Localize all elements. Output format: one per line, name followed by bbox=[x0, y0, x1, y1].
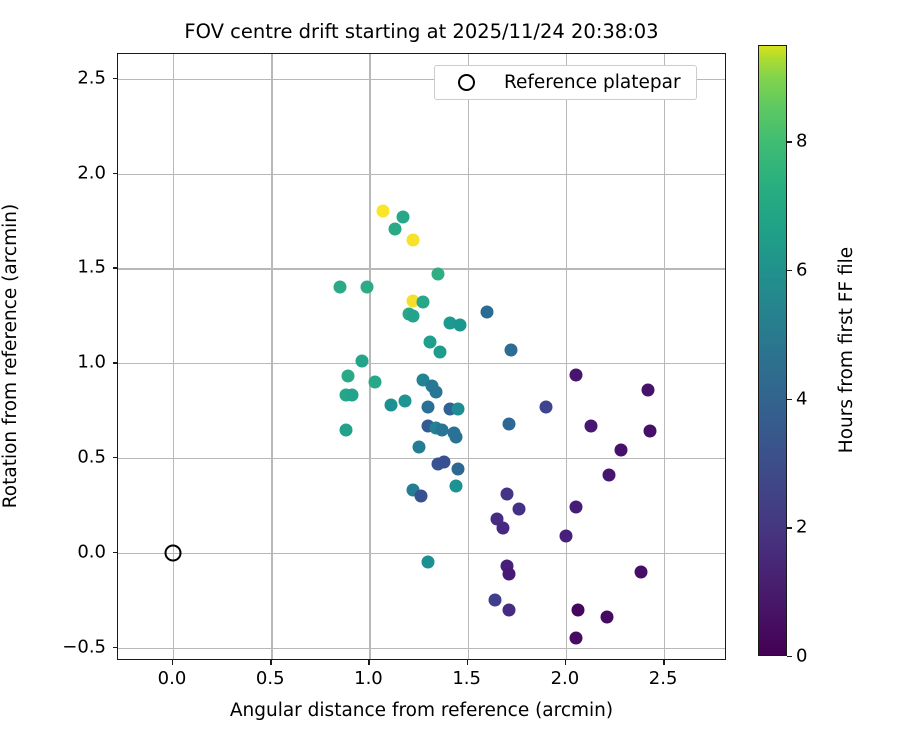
scatter-point bbox=[569, 501, 582, 514]
scatter-point bbox=[502, 567, 515, 580]
x-tick-label: 0.0 bbox=[158, 668, 187, 689]
scatter-point bbox=[341, 370, 354, 383]
colorbar-tick-label: 6 bbox=[796, 260, 807, 281]
scatter-point bbox=[333, 281, 346, 294]
gridline-horizontal bbox=[118, 553, 725, 554]
y-tick-label: 1.0 bbox=[77, 352, 106, 373]
scatter-point bbox=[449, 480, 462, 493]
gridline-horizontal bbox=[118, 363, 725, 364]
scatter-point bbox=[504, 343, 517, 356]
legend-label: Reference platepar bbox=[504, 72, 685, 93]
scatter-point bbox=[434, 345, 447, 358]
y-tick-mark bbox=[113, 173, 118, 174]
figure-root: FOV centre drift starting at 2025/11/24 … bbox=[0, 0, 900, 750]
scatter-point bbox=[377, 205, 390, 218]
gridline-horizontal bbox=[118, 648, 725, 649]
colorbar-label: Hours from first FF file bbox=[836, 247, 857, 453]
y-tick-mark bbox=[113, 647, 118, 648]
y-tick-label: 0.5 bbox=[77, 447, 106, 468]
x-tick-label: 1.0 bbox=[354, 668, 383, 689]
colorbar-tick-label: 0 bbox=[796, 646, 807, 667]
gridline-vertical bbox=[369, 54, 370, 659]
colorbar-tick-label: 4 bbox=[796, 388, 807, 409]
reference-platepar-marker-icon bbox=[458, 74, 475, 91]
scatter-point bbox=[369, 376, 382, 389]
gridline-horizontal bbox=[118, 174, 725, 175]
scatter-point bbox=[416, 296, 429, 309]
scatter-point bbox=[361, 281, 374, 294]
scatter-point bbox=[430, 385, 443, 398]
colorbar bbox=[758, 45, 787, 656]
x-tick-label: 1.5 bbox=[452, 668, 481, 689]
scatter-point bbox=[497, 522, 510, 535]
x-tick-mark bbox=[270, 660, 271, 665]
scatter-point bbox=[569, 632, 582, 645]
gridline-vertical bbox=[664, 54, 665, 659]
scatter-point bbox=[585, 419, 598, 432]
page-title: FOV centre drift starting at 2025/11/24 … bbox=[117, 20, 726, 43]
y-tick-label: −0.5 bbox=[62, 636, 106, 657]
scatter-point bbox=[642, 383, 655, 396]
scatter-point bbox=[398, 395, 411, 408]
scatter-point bbox=[502, 603, 515, 616]
scatter-point bbox=[540, 400, 553, 413]
y-tick-label: 2.5 bbox=[77, 67, 106, 88]
scatter-point bbox=[559, 529, 572, 542]
scatter-point bbox=[571, 603, 584, 616]
gridline-vertical bbox=[271, 54, 272, 659]
x-tick-label: 2.5 bbox=[649, 668, 678, 689]
scatter-point bbox=[422, 556, 435, 569]
y-tick-mark bbox=[113, 362, 118, 363]
scatter-point bbox=[438, 455, 451, 468]
colorbar-tick-mark bbox=[787, 270, 792, 271]
x-tick-mark bbox=[467, 660, 468, 665]
y-tick-label: 0.0 bbox=[77, 541, 106, 562]
scatter-point bbox=[500, 488, 513, 501]
y-tick-mark bbox=[113, 457, 118, 458]
scatter-point bbox=[385, 398, 398, 411]
scatter-point bbox=[601, 611, 614, 624]
gridline-vertical bbox=[173, 54, 174, 659]
colorbar-tick-mark bbox=[787, 527, 792, 528]
x-tick-label: 2.0 bbox=[551, 668, 580, 689]
scatter-point bbox=[449, 431, 462, 444]
scatter-point bbox=[406, 309, 419, 322]
colorbar-tick-mark bbox=[787, 399, 792, 400]
scatter-point bbox=[451, 402, 464, 415]
scatter-point bbox=[345, 389, 358, 402]
y-tick-label: 2.0 bbox=[77, 162, 106, 183]
plot-area bbox=[117, 53, 726, 660]
scatter-point bbox=[644, 425, 657, 438]
y-tick-mark bbox=[113, 267, 118, 268]
scatter-point bbox=[634, 565, 647, 578]
gridline-vertical bbox=[468, 54, 469, 659]
y-tick-mark bbox=[113, 552, 118, 553]
scatter-point bbox=[451, 463, 464, 476]
scatter-point bbox=[481, 305, 494, 318]
scatter-point bbox=[414, 489, 427, 502]
scatter-point bbox=[489, 594, 502, 607]
legend: Reference platepar bbox=[434, 65, 697, 100]
colorbar-tick-mark bbox=[787, 656, 792, 657]
y-tick-label: 1.5 bbox=[77, 257, 106, 278]
scatter-point bbox=[453, 319, 466, 332]
gridline-horizontal bbox=[118, 268, 725, 269]
colorbar-tick-mark bbox=[787, 141, 792, 142]
scatter-point bbox=[512, 503, 525, 516]
scatter-point bbox=[388, 222, 401, 235]
x-tick-mark bbox=[172, 660, 173, 665]
colorbar-tick-label: 2 bbox=[796, 517, 807, 538]
scatter-point bbox=[432, 268, 445, 281]
x-axis-label: Angular distance from reference (arcmin) bbox=[117, 700, 726, 721]
scatter-point bbox=[569, 368, 582, 381]
reference-platepar-point bbox=[165, 544, 182, 561]
x-tick-mark bbox=[663, 660, 664, 665]
x-tick-mark bbox=[368, 660, 369, 665]
scatter-point bbox=[355, 355, 368, 368]
scatter-point bbox=[603, 469, 616, 482]
scatter-point bbox=[422, 400, 435, 413]
gridline-horizontal bbox=[118, 458, 725, 459]
scatter-point bbox=[614, 444, 627, 457]
scatter-point bbox=[396, 211, 409, 224]
scatter-point bbox=[412, 440, 425, 453]
colorbar-tick-label: 8 bbox=[796, 131, 807, 152]
x-tick-mark bbox=[565, 660, 566, 665]
scatter-point bbox=[406, 233, 419, 246]
x-tick-label: 0.5 bbox=[256, 668, 285, 689]
gridline-vertical bbox=[566, 54, 567, 659]
y-tick-mark bbox=[113, 78, 118, 79]
scatter-point bbox=[502, 417, 515, 430]
scatter-point bbox=[339, 423, 352, 436]
y-axis-label: Rotation from reference (arcmin) bbox=[0, 204, 21, 508]
